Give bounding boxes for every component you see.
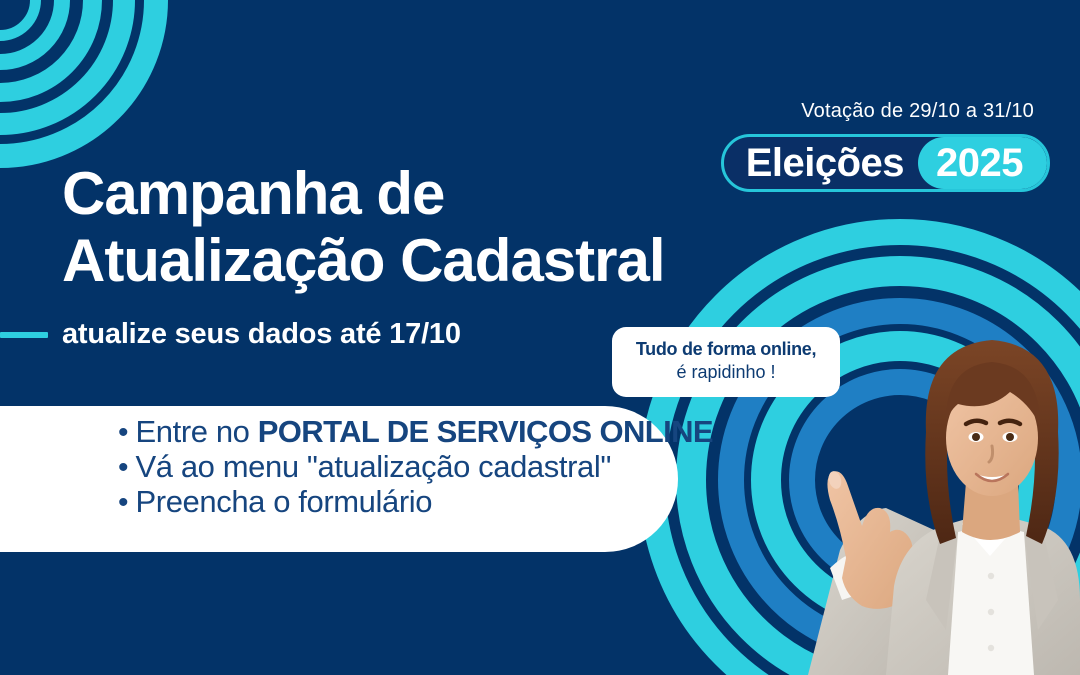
callout-line-1: Tudo de forma online, [626, 338, 826, 361]
campaign-banner: Votação de 29/10 a 31/10 Eleições 2025 C… [0, 0, 1080, 675]
step-label: Entre no PORTAL DE SERVIÇOS ONLINE [136, 416, 713, 449]
step-item: •Entre no PORTAL DE SERVIÇOS ONLINE [118, 416, 713, 449]
decor-ring-3 [0, 0, 135, 135]
decor-ring-0 [0, 0, 41, 41]
decorative-rings-left [0, 0, 150, 150]
election-badge-year: 2025 [918, 137, 1047, 189]
page-title: Campanha de Atualização Cadastral [62, 160, 665, 294]
steps-list: •Entre no PORTAL DE SERVIÇOS ONLINE•Vá a… [118, 416, 713, 521]
decor-ring-1 [0, 0, 70, 70]
step-label: Vá ao menu "atualização cadastral" [136, 451, 611, 484]
voting-dates-label: Votação de 29/10 a 31/10 [801, 100, 1034, 123]
callout-line-2: é rapidinho ! [626, 361, 826, 384]
decorative-rings-right [655, 235, 1080, 675]
bullet-icon: • [118, 453, 129, 483]
bullet-icon: • [118, 418, 129, 448]
callout-bubble: Tudo de forma online, é rapidinho ! [612, 327, 840, 397]
decor-ring-4 [0, 0, 168, 168]
decor-ring-2 [0, 0, 102, 102]
step-label: Preencha o formulário [136, 486, 433, 519]
bullet-icon: • [118, 488, 129, 518]
step-item: •Vá ao menu "atualização cadastral" [118, 451, 713, 484]
election-badge-word: Eleições [724, 137, 918, 189]
page-subtitle: atualize seus dados até 17/10 [62, 318, 461, 351]
decor-ring-3 [676, 256, 1080, 675]
decor-ring-0 [789, 369, 1011, 591]
subtitle-row: atualize seus dados até 17/10 [0, 318, 461, 351]
step-item: •Preencha o formulário [118, 486, 713, 519]
election-badge: Eleições 2025 [721, 134, 1050, 192]
accent-dash [0, 332, 48, 338]
